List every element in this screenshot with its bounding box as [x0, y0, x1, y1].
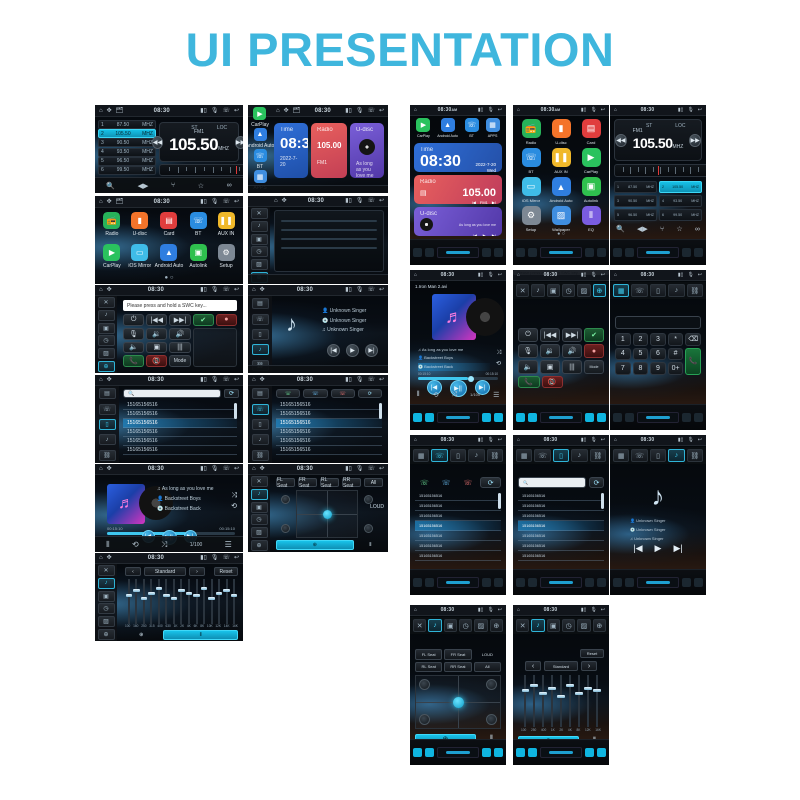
seat-all-button[interactable]: All: [474, 662, 501, 673]
eq-slider[interactable]: [171, 579, 178, 624]
sound-icon[interactable]: ♪: [531, 619, 544, 632]
radio-next-button[interactable]: ▶▶: [235, 136, 243, 149]
home-icon[interactable]: ⌂: [274, 198, 278, 204]
favorite-icon[interactable]: ☆: [676, 225, 682, 233]
phone-icon[interactable]: ☏: [222, 555, 230, 561]
mic-icon[interactable]: 🎙: [211, 287, 219, 293]
eq-preset-name[interactable]: Standard: [544, 661, 578, 671]
prev-track-button[interactable]: |◀: [633, 543, 642, 554]
repeat-icon[interactable]: ⟲: [132, 540, 139, 549]
app-setup[interactable]: ⚙Setup: [213, 244, 239, 274]
sidebar-item-bt[interactable]: ☏ BT: [254, 149, 267, 170]
phone-icon[interactable]: ☏: [222, 108, 230, 114]
phone-icon[interactable]: ☏: [367, 198, 375, 204]
phone-icon[interactable]: ☏: [222, 466, 230, 472]
eq-slider-knob[interactable]: [186, 592, 193, 595]
eq-slider-knob[interactable]: [208, 597, 215, 600]
mic-icon[interactable]: 🎙: [211, 555, 219, 561]
btmusic-icon[interactable]: ♪: [668, 449, 684, 462]
next-track-button[interactable]: ▶|: [365, 344, 378, 357]
app-auxin[interactable]: ❚❚AUX IN: [213, 212, 239, 242]
back-card-icon[interactable]: 🗂: [116, 108, 124, 114]
sidebar-item-androidauto[interactable]: ▲ Android Auto: [248, 128, 274, 149]
radio-preset[interactable]: 493.50MHZ: [659, 195, 702, 207]
hw-vol-up-key[interactable]: [694, 413, 703, 422]
return-icon[interactable]: ↩: [698, 273, 702, 278]
btmusic-icon[interactable]: ♪: [252, 344, 269, 355]
dial-key-3[interactable]: 3: [650, 333, 666, 346]
apps-icon[interactable]: ✥: [107, 108, 112, 114]
clock-icon[interactable]: ◷: [562, 619, 575, 632]
steering-wheel-icon[interactable]: ⊕: [593, 284, 606, 297]
list-item[interactable]: 15165156516: [518, 531, 604, 541]
tools-icon[interactable]: ✕: [98, 297, 115, 308]
swc-key-volup[interactable]: 🔊: [562, 344, 582, 358]
app-radio[interactable]: 📻Radio: [99, 212, 125, 242]
return-icon[interactable]: ↩: [234, 466, 239, 472]
mic-icon[interactable]: 🎙: [211, 466, 219, 472]
home-icon[interactable]: ⌂: [99, 555, 103, 561]
hw-vol-down-key[interactable]: [682, 248, 691, 257]
swc-key-hangup[interactable]: 📵: [146, 355, 167, 367]
mic-icon[interactable]: 🎙: [211, 377, 219, 383]
hw-vol-down-key[interactable]: [682, 413, 691, 422]
swc-key-volup[interactable]: 🔊: [169, 328, 190, 340]
phone-icon[interactable]: ☏: [367, 377, 375, 383]
radio-dial[interactable]: [159, 164, 243, 176]
eq-next-button[interactable]: ›: [189, 567, 205, 576]
list-item[interactable]: 15165156516: [276, 446, 382, 455]
seat-all-button[interactable]: All: [364, 478, 383, 487]
search-icon[interactable]: 🔍: [106, 182, 115, 190]
steering-wheel-icon[interactable]: ⊕: [251, 540, 268, 551]
eq-slider[interactable]: [201, 579, 208, 624]
swc-key-camera[interactable]: ▣: [540, 360, 560, 374]
list-item[interactable]: 15165156516: [518, 521, 604, 531]
back-card-icon[interactable]: 🗂: [116, 199, 124, 205]
return-icon[interactable]: ↩: [234, 287, 239, 293]
eq-slider-knob[interactable]: [201, 587, 208, 590]
radio-preset[interactable]: 2105.50MHZ: [659, 181, 702, 193]
fader-handle[interactable]: [323, 510, 332, 519]
hw-power-key[interactable]: [413, 578, 422, 587]
hw-vol-down-key[interactable]: [585, 413, 594, 422]
hw-mute-key[interactable]: [528, 248, 537, 257]
repeat-icon[interactable]: ⟲: [496, 360, 501, 367]
radio-preset[interactable]: 6 99.50 MHZ: [98, 166, 156, 175]
repeat-icon[interactable]: ⟲: [231, 502, 237, 510]
eq-slider[interactable]: [575, 675, 583, 727]
clock-icon[interactable]: ◷: [98, 603, 115, 614]
shortcut-carplay[interactable]: ▶CarPlay: [416, 118, 430, 140]
return-icon[interactable]: ↩: [379, 287, 384, 293]
app-udisc[interactable]: ▮U-disc: [127, 212, 153, 242]
mic-icon[interactable]: 🎙: [487, 108, 493, 113]
swc-key-prev[interactable]: |◀◀: [540, 328, 560, 342]
play-button[interactable]: ▶: [483, 233, 486, 236]
app-eq[interactable]: ⦀EQ: [577, 206, 605, 233]
mic-icon[interactable]: 🎙: [356, 108, 364, 114]
app-androidauto[interactable]: ▲Android Auto: [155, 244, 184, 274]
scan-icon[interactable]: ◀▶: [138, 182, 149, 190]
list-item[interactable]: 15165156516: [518, 511, 604, 521]
mic-icon[interactable]: 🎙: [687, 108, 693, 113]
list-item[interactable]: 15165156516: [415, 501, 501, 511]
list-item[interactable]: 15165156516: [518, 501, 604, 511]
refresh-button[interactable]: ⟳: [358, 389, 382, 398]
eq-slider-knob[interactable]: [178, 589, 185, 592]
mic-icon[interactable]: 🎙: [356, 287, 364, 293]
btmusic-icon[interactable]: ♪: [99, 434, 116, 445]
home-icon[interactable]: ⌂: [99, 466, 103, 472]
hw-power-key[interactable]: [516, 578, 525, 587]
wallpaper-icon[interactable]: ▨: [577, 619, 590, 632]
list-item[interactable]: 15165156516: [518, 491, 604, 501]
backspace-icon[interactable]: ⌫: [685, 333, 701, 346]
radio-preset[interactable]: 5 96.50 MHZ: [98, 157, 156, 166]
list-item[interactable]: 15165156516: [123, 428, 237, 437]
dialpad-icon[interactable]: ▤: [252, 298, 269, 309]
next-track-button[interactable]: ▶|: [673, 543, 682, 554]
apps-icon[interactable]: ✥: [284, 108, 289, 114]
return-icon[interactable]: ↩: [601, 608, 605, 613]
hw-power-key[interactable]: [613, 578, 622, 587]
fader-handle[interactable]: [453, 697, 464, 708]
tools-icon[interactable]: ✕: [251, 476, 268, 487]
list-item[interactable]: 15165156516: [518, 541, 604, 551]
loud-checkbox[interactable]: LOUD: [474, 649, 501, 660]
clock-icon[interactable]: ◷: [459, 619, 472, 632]
hw-vol-up-key[interactable]: [494, 748, 503, 757]
swc-key-prev[interactable]: |◀◀: [146, 314, 167, 326]
sidebar-item-carplay[interactable]: ▶ CarPlay: [251, 107, 269, 128]
contact-list[interactable]: 15165156516 15165156516 15165156516 1516…: [518, 491, 604, 563]
app-androidauto[interactable]: ▲Android Auto: [547, 177, 575, 204]
btmusic-icon[interactable]: ♪: [468, 449, 484, 462]
home-icon[interactable]: ⌂: [99, 377, 103, 383]
camera-icon[interactable]: ▣: [98, 591, 115, 602]
eq-slider[interactable]: [156, 579, 163, 624]
clock-icon[interactable]: ◷: [251, 246, 268, 257]
list-item[interactable]: 15165156516: [415, 521, 501, 531]
return-icon[interactable]: ↩: [234, 377, 239, 383]
contacts-icon[interactable]: ▯: [553, 449, 569, 462]
scrollbar[interactable]: [601, 493, 604, 509]
contact-list[interactable]: 15165156516 15165156516 15165156516 1516…: [123, 401, 237, 459]
hw-vol-up-key[interactable]: [597, 413, 606, 422]
eq-next-button[interactable]: ›: [581, 661, 597, 671]
app-wallpaper[interactable]: ▨Wallpaper: [547, 206, 575, 233]
eq-slider[interactable]: [522, 675, 530, 727]
dialpad-icon[interactable]: ▦: [613, 284, 629, 297]
eq-slider[interactable]: [216, 579, 223, 624]
mic-icon[interactable]: 🎙: [590, 438, 596, 443]
video-content-area[interactable]: [274, 210, 384, 272]
eq-slider[interactable]: [141, 579, 148, 624]
shuffle-icon[interactable]: ⤨: [452, 391, 458, 399]
hw-vol-down-key[interactable]: [682, 578, 691, 587]
list-item[interactable]: 15165156516: [123, 410, 237, 419]
seat-fl-button[interactable]: FL Seat: [415, 649, 442, 660]
hw-vol-down-key[interactable]: [482, 248, 491, 257]
hw-mute-key[interactable]: [528, 578, 537, 587]
app-card[interactable]: ▤Card: [577, 119, 605, 146]
steering-wheel-icon[interactable]: ⊕: [98, 361, 115, 372]
return-icon[interactable]: ↩: [234, 199, 239, 205]
band-icon[interactable]: ⑂: [660, 226, 664, 233]
scrollbar[interactable]: [234, 403, 237, 419]
eq-slider[interactable]: [223, 579, 230, 624]
link-icon[interactable]: ⛓: [252, 450, 269, 461]
dial-key-7[interactable]: 7: [615, 362, 631, 375]
band-icon[interactable]: ⑂: [171, 182, 175, 189]
hw-power-key[interactable]: [516, 248, 525, 257]
app-iosmirror[interactable]: ▭iOS Mirror: [517, 177, 545, 204]
app-bt[interactable]: ☏BT: [517, 148, 545, 175]
shortcut-apps[interactable]: ▦APPS: [486, 118, 500, 140]
camera-icon[interactable]: ▣: [251, 502, 268, 513]
app-setup[interactable]: ⚙Setup: [517, 206, 545, 233]
swc-key-answer[interactable]: 📞: [518, 376, 540, 388]
shuffle-icon[interactable]: ⤨: [231, 492, 237, 500]
hw-vol-down-key[interactable]: [482, 413, 491, 422]
return-icon[interactable]: ↩: [601, 108, 605, 113]
steering-wheel-icon[interactable]: ⊕: [490, 619, 503, 632]
eq-slider-knob[interactable]: [566, 684, 574, 687]
hw-mute-key[interactable]: [625, 248, 634, 257]
dial-key-star[interactable]: *: [668, 333, 684, 346]
camera-icon[interactable]: ▣: [444, 619, 457, 632]
home-icon[interactable]: ⌂: [99, 108, 103, 114]
dial-input[interactable]: [615, 316, 701, 329]
eq-slider[interactable]: [231, 579, 238, 624]
sound-icon[interactable]: ♪: [251, 221, 268, 232]
eq-tab[interactable]: ⦀: [358, 540, 383, 550]
dial-key-1[interactable]: 1: [615, 333, 631, 346]
steering-wheel-icon[interactable]: ⊕: [98, 629, 115, 640]
list-item[interactable]: 15165156516: [123, 419, 237, 428]
contacts-icon[interactable]: ▯: [99, 419, 116, 430]
swc-key-voldown[interactable]: 🔉: [146, 328, 167, 340]
hw-vol-up-key[interactable]: [494, 413, 503, 422]
swc-key-confirm[interactable]: ✔: [584, 328, 604, 342]
hw-mute-key[interactable]: [528, 748, 537, 757]
play-button[interactable]: ▶: [655, 543, 662, 554]
swc-key-voldown[interactable]: 🔉: [540, 344, 560, 358]
hw-power-key[interactable]: [516, 413, 525, 422]
app-radio[interactable]: 📻Radio: [517, 119, 545, 146]
eq-slider[interactable]: [566, 675, 574, 727]
steering-wheel-icon[interactable]: ⊕: [593, 619, 606, 632]
phone-icon[interactable]: ☏: [367, 287, 375, 293]
eq-slider-knob[interactable]: [593, 689, 601, 692]
return-icon[interactable]: ↩: [698, 438, 702, 443]
dial-key-6[interactable]: 6: [650, 348, 666, 361]
eq-slider-knob[interactable]: [584, 687, 592, 690]
all-calls-icon[interactable]: ☏: [415, 477, 434, 488]
eq-slider-knob[interactable]: [548, 687, 556, 690]
home-card-udisc[interactable]: U-disc As long as you love me: [350, 123, 384, 178]
list-item[interactable]: 15165156516: [415, 491, 501, 501]
return-icon[interactable]: ↩: [234, 555, 239, 561]
eq-icon[interactable]: ⦀: [106, 540, 110, 550]
home-icon[interactable]: ⌂: [252, 287, 256, 293]
seat-fr-button[interactable]: FR Seat: [298, 478, 317, 487]
return-icon[interactable]: ↩: [698, 108, 702, 113]
radio-preset[interactable]: 2 105.50 MHZ: [98, 129, 156, 138]
mic-icon[interactable]: 🎙: [590, 108, 596, 113]
phone-icon[interactable]: ☏: [222, 287, 230, 293]
home-card-time[interactable]: Time 08:30 2022-7-20: [274, 123, 308, 178]
eq-slider-bank[interactable]: [521, 675, 601, 727]
hw-vol-down-key[interactable]: [585, 578, 594, 587]
hw-vol-up-key[interactable]: [694, 248, 703, 257]
phone-icon[interactable]: ☏: [222, 199, 230, 205]
hw-mute-key[interactable]: [625, 578, 634, 587]
sound-icon[interactable]: ♪: [531, 284, 544, 297]
app-card[interactable]: ▤Card: [155, 212, 184, 242]
tools-icon[interactable]: ✕: [251, 208, 268, 219]
playlist-icon[interactable]: ☰: [225, 540, 232, 549]
hw-mute-key[interactable]: [425, 748, 434, 757]
eq-slider-knob[interactable]: [156, 587, 163, 590]
eq-slider-knob[interactable]: [557, 695, 565, 698]
fader-grid[interactable]: [415, 675, 501, 729]
mic-icon[interactable]: 🎙: [356, 198, 364, 204]
list-item[interactable]: 15165156516: [276, 419, 382, 428]
radio-dial[interactable]: [614, 164, 706, 177]
hw-vol-down-key[interactable]: [585, 248, 594, 257]
play-button[interactable]: ▶: [346, 344, 359, 357]
seat-rr-button[interactable]: RR Seat: [342, 478, 361, 487]
back-card-icon[interactable]: 🗂: [293, 108, 301, 114]
hw-vol-down-key[interactable]: [585, 748, 594, 757]
swc-key-mode[interactable]: Mode: [169, 355, 190, 367]
calllog-icon[interactable]: ☏: [534, 449, 550, 462]
hw-mute-key[interactable]: [528, 413, 537, 422]
eq-slider-knob[interactable]: [575, 692, 583, 695]
mic-icon[interactable]: 🎙: [487, 438, 493, 443]
swc-key-next[interactable]: ▶▶|: [169, 314, 190, 326]
refresh-button[interactable]: ⟳: [224, 389, 239, 398]
radio-preset[interactable]: 699.50MHZ: [659, 209, 702, 221]
tools-icon[interactable]: ✕: [98, 565, 115, 576]
tools-icon[interactable]: ✕: [516, 619, 529, 632]
calllog-icon[interactable]: ☏: [252, 404, 269, 415]
link-icon[interactable]: ⛓: [590, 449, 606, 462]
mic-icon[interactable]: 🎙: [687, 273, 693, 278]
eq-slider[interactable]: [557, 675, 565, 727]
home-icon[interactable]: ⌂: [99, 199, 103, 205]
home-icon[interactable]: ⌂: [276, 108, 280, 114]
link-icon[interactable]: ⛓: [687, 284, 703, 297]
home-card-radio[interactable]: Radio 105.00 FM1: [311, 123, 347, 178]
seat-rl-button[interactable]: RL Seat: [320, 478, 339, 487]
mic-icon[interactable]: 🎙: [211, 199, 219, 205]
tools-icon[interactable]: ✕: [516, 284, 529, 297]
calllog-icon[interactable]: ☏: [99, 404, 116, 415]
swc-key-confirm[interactable]: ✔: [193, 314, 214, 326]
camera-icon[interactable]: ▣: [547, 284, 560, 297]
link-icon[interactable]: ⛓: [687, 449, 703, 462]
eq-slider-knob[interactable]: [133, 589, 140, 592]
eq-slider[interactable]: [133, 579, 140, 624]
calllog-icon[interactable]: ☏: [431, 449, 447, 462]
radio-prev-button[interactable]: ◀◀: [152, 136, 163, 149]
home-card-udisc[interactable]: U-disc As long as you love me |◀ ▶ ▶|: [414, 207, 502, 236]
scrollbar[interactable]: [498, 493, 501, 509]
contacts-icon[interactable]: ▯: [450, 449, 466, 462]
hw-vol-up-key[interactable]: [694, 578, 703, 587]
eq-slider[interactable]: [148, 579, 155, 624]
clock-icon[interactable]: ◷: [562, 284, 575, 297]
scan-icon[interactable]: ◀▶: [637, 225, 648, 233]
home-icon[interactable]: ⌂: [252, 466, 256, 472]
eq-slider-knob[interactable]: [231, 594, 238, 597]
list-item[interactable]: 15165156516: [415, 511, 501, 521]
link-icon[interactable]: ⛓: [99, 450, 116, 461]
eq-prev-button[interactable]: ‹: [525, 661, 541, 671]
swc-key-record[interactable]: ●: [216, 314, 237, 326]
list-item[interactable]: 15165156516: [123, 401, 237, 410]
mic-icon[interactable]: 🎙: [487, 273, 493, 278]
eq-slider[interactable]: [126, 579, 133, 624]
eq-preset-name[interactable]: Standard: [144, 567, 186, 576]
seat-rr-button[interactable]: RR Seat: [444, 662, 471, 673]
eq-slider[interactable]: [163, 579, 170, 624]
eq-slider-knob[interactable]: [216, 592, 223, 595]
radio-prev-button[interactable]: ◀◀: [615, 134, 627, 147]
phone-icon[interactable]: ☏: [367, 108, 375, 114]
radio-next-button[interactable]: ▶▶: [689, 134, 701, 147]
swc-key-next[interactable]: ▶▶|: [562, 328, 582, 342]
wallpaper-icon[interactable]: ▨: [98, 348, 115, 359]
dialpad-icon[interactable]: ▦: [413, 449, 429, 462]
swc-key-menu[interactable]: |||: [562, 360, 582, 374]
wallpaper-icon[interactable]: ▨: [251, 259, 268, 270]
return-icon[interactable]: ↩: [498, 273, 502, 278]
return-icon[interactable]: ↩: [379, 198, 384, 204]
dialpad-icon[interactable]: ▤: [252, 388, 269, 399]
app-iosmirror[interactable]: ▭iOS Mirror: [127, 244, 153, 274]
call-log-list[interactable]: 15165156516 15165156516 15165156516 1516…: [276, 401, 382, 459]
contacts-icon[interactable]: ▯: [252, 329, 269, 340]
missed-calls-icon[interactable]: ☏: [459, 477, 478, 488]
eq-slider-bank[interactable]: [125, 579, 238, 624]
radio-preset[interactable]: 187.50MHZ: [614, 181, 657, 193]
eq-slider-knob[interactable]: [522, 689, 530, 692]
search-input[interactable]: 🔍: [518, 477, 586, 488]
eq-reset-button[interactable]: Reset: [580, 649, 604, 658]
eq-slider-knob[interactable]: [223, 589, 230, 592]
mic-icon[interactable]: 🎙: [356, 466, 364, 472]
return-icon[interactable]: ↩: [379, 466, 384, 472]
eq-slider[interactable]: [593, 675, 601, 727]
balance-tab[interactable]: ⊕: [276, 540, 354, 550]
camera-icon[interactable]: ▣: [98, 323, 115, 334]
home-card-radio[interactable]: Radio ▤ 105.00 |◀ FM1 ▶|: [414, 175, 502, 204]
hw-mute-key[interactable]: [425, 248, 434, 257]
eq-slider-knob[interactable]: [141, 597, 148, 600]
hw-mute-key[interactable]: [425, 578, 434, 587]
stereo-icon[interactable]: ∞: [227, 182, 232, 189]
shuffle-icon[interactable]: ⤨: [161, 540, 167, 550]
list-item[interactable]: 15165156516: [123, 446, 237, 455]
hw-mute-key[interactable]: [625, 413, 634, 422]
seat-fr-button[interactable]: FR Seat: [444, 649, 471, 660]
contacts-icon[interactable]: ▯: [252, 419, 269, 430]
hw-power-key[interactable]: [413, 248, 422, 257]
